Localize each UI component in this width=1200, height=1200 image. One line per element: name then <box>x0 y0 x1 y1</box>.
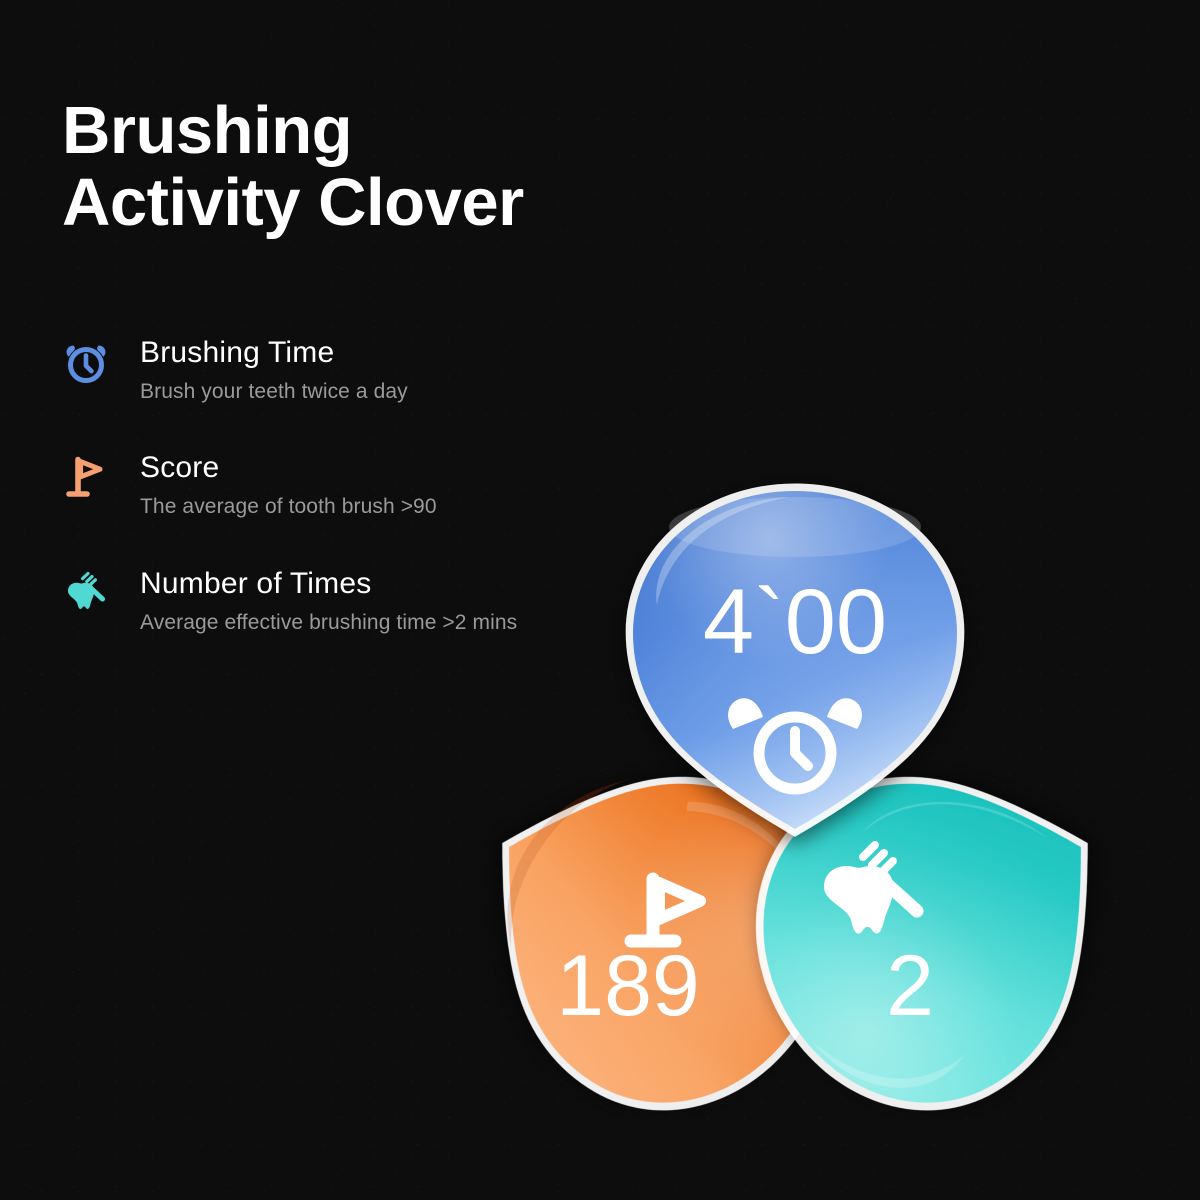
brushing-activity-clover: 189 2 <box>420 455 1165 1165</box>
page-title: Brushing Activity Clover <box>62 95 722 240</box>
clover-petal-score-value: 189 <box>556 938 700 1034</box>
feature-item-brushing-time: Brushing Time Brush your teeth twice a d… <box>62 336 582 405</box>
alarm-clock-icon <box>62 338 110 386</box>
toothbrush-icon <box>62 569 110 617</box>
page-title-line-2: Activity Clover <box>62 167 722 239</box>
clover-petal-brushing-time-value: 4`00 <box>703 571 887 673</box>
infographic-canvas: Brushing Activity Clover Brushing Time B… <box>0 0 1200 1200</box>
page-title-line-1: Brushing <box>62 95 722 167</box>
clover-petal-number-of-times-value: 2 <box>886 938 934 1034</box>
feature-title: Brushing Time <box>140 336 582 370</box>
feature-description: Brush your teeth twice a day <box>140 379 540 406</box>
flag-icon <box>62 453 110 501</box>
